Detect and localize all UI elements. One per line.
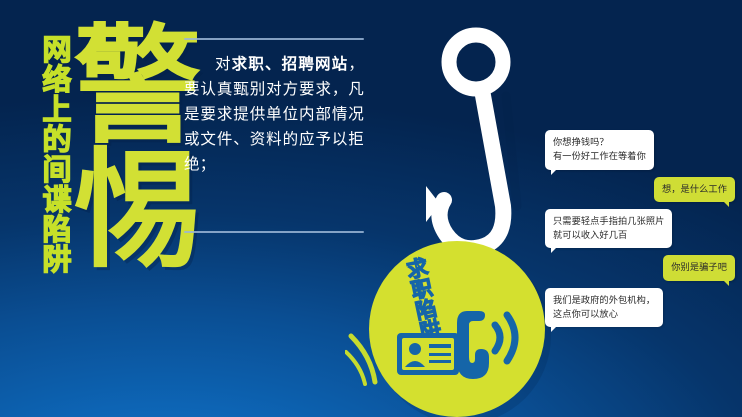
chat-bubble-me: 你别是骗子吧	[663, 255, 735, 280]
chat-bubble-them: 只需要轻点手指拍几张照片 就可以收入好几百	[545, 209, 672, 249]
chat-bubble-them: 你想挣钱吗？ 有一份好工作在等着你	[545, 130, 654, 170]
chat-conversation: 你想挣钱吗？ 有一份好工作在等着你 想，是什么工作 只需要轻点手指拍几张照片 就…	[545, 130, 735, 334]
page-title: 警惕	[62, 18, 188, 266]
copy-block: 对求职、招聘网站，要认真甄别对方要求，凡是要求提供单位内部情况或文件、资料的应予…	[184, 38, 364, 178]
phone-ringing-icon	[457, 311, 515, 379]
badge-circle: 求职陷阱	[369, 241, 545, 417]
chat-row: 只需要轻点手指拍几张照片 就可以收入好几百	[545, 209, 735, 249]
body-emphasis: 求职、招聘网站	[232, 56, 349, 73]
chat-row: 你想挣钱吗？ 有一份好工作在等着你	[545, 130, 735, 170]
chat-bubble-them: 我们是政府的外包机构， 这点你可以放心	[545, 288, 663, 328]
chat-row: 我们是政府的外包机构， 这点你可以放心	[545, 288, 735, 328]
body-rest: ，要认真甄别对方要求，凡是要求提供单位内部情况或文件、资料的应予以拒绝；	[184, 56, 364, 173]
divider-bottom	[184, 231, 364, 233]
fishing-hook-icon	[420, 26, 550, 271]
poster-canvas: 网络上的间谍陷阱 警惕 对求职、招聘网站，要认真甄别对方要求，凡是要求提供单位内…	[0, 0, 742, 417]
divider-top	[184, 38, 364, 40]
id-card-icon	[397, 333, 459, 375]
chat-bubble-me: 想，是什么工作	[654, 177, 735, 202]
body-paragraph: 对求职、招聘网站，要认真甄别对方要求，凡是要求提供单位内部情况或文件、资料的应予…	[184, 52, 364, 178]
body-lead: 对	[215, 56, 232, 73]
badge-icon-group	[395, 299, 527, 400]
chat-row: 你别是骗子吧	[545, 255, 735, 280]
chat-row: 想，是什么工作	[545, 177, 735, 202]
